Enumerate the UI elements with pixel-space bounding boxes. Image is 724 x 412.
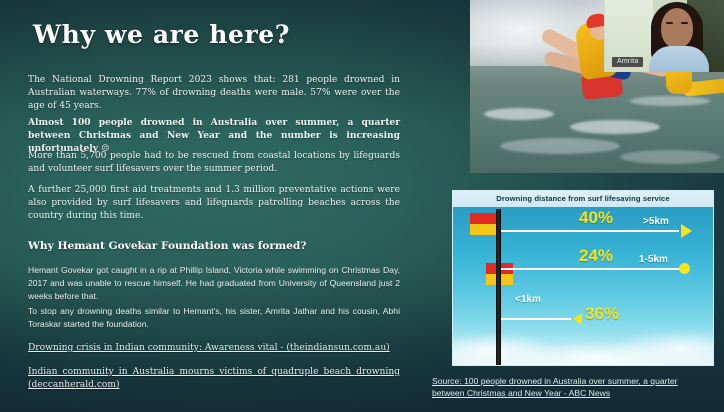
reference-link-theindiansun[interactable]: Drowning crisis in Indian community: Awa… (28, 342, 400, 355)
chart-category-label: 1-5km (639, 255, 668, 265)
chart-category-label: >5km (643, 217, 669, 227)
photo-foam (620, 150, 720, 164)
chart-bar-line (501, 268, 683, 270)
endpoint-dot-icon (679, 263, 690, 274)
source-citation-link[interactable]: Source: 100 people drowned in Australia … (432, 375, 708, 400)
webcam-video-tile[interactable]: Amrita (604, 0, 724, 72)
webcam-participant-name: Amrita (612, 57, 643, 67)
webcam-speaker-eye (666, 22, 673, 24)
photo-foam (484, 108, 554, 120)
photo-foam (630, 96, 710, 106)
paragraph-coastal-rescues: More than 5,700 people had to be rescued… (28, 150, 400, 176)
section-heading-foundation: Why Hemant Govekar Foundation was formed… (28, 240, 408, 252)
chart-value-label: 24% (579, 247, 613, 264)
reference-link-deccanherald[interactable]: Indian community in Australia mourns vic… (28, 366, 400, 392)
webcam-speaker-face (661, 8, 693, 48)
chart-value-label: 36% (585, 305, 619, 322)
arrow-right-icon (681, 224, 692, 238)
paragraph-national-drowning-report: The National Drowning Report 2023 shows … (28, 74, 400, 113)
paragraph-first-aid-treatments: A further 25,000 first aid treatments an… (28, 184, 400, 223)
paragraph-foundation-founders: To stop any drowning deaths similar to H… (28, 305, 400, 331)
webcam-speaker-shirt (649, 46, 709, 72)
drowning-distance-infographic: Drowning distance from surf lifesaving s… (452, 190, 714, 366)
slide-text-column: Why we are here? The National Drowning R… (0, 0, 430, 412)
flag-yellow-half (470, 224, 497, 235)
presentation-slide: Why we are here? The National Drowning R… (0, 0, 724, 412)
surf-flag-upper (470, 213, 497, 235)
photo-foam (500, 138, 620, 154)
webcam-speaker-eye (681, 22, 688, 24)
page-title: Why we are here? (33, 20, 290, 49)
chart-category-label: <1km (515, 295, 541, 305)
chart-value-label: 40% (579, 209, 613, 226)
paragraph-hemant-story: Hemant Govekar got caught in a rip at Ph… (28, 264, 400, 303)
chart-bar-line (501, 318, 571, 320)
arrow-left-icon (573, 313, 582, 325)
photo-foam (570, 120, 660, 134)
chart-title: Drowning distance from surf lifesaving s… (453, 194, 713, 203)
chart-bar-line (501, 230, 679, 232)
flag-red-half (470, 213, 497, 224)
flag-pole (496, 209, 501, 365)
